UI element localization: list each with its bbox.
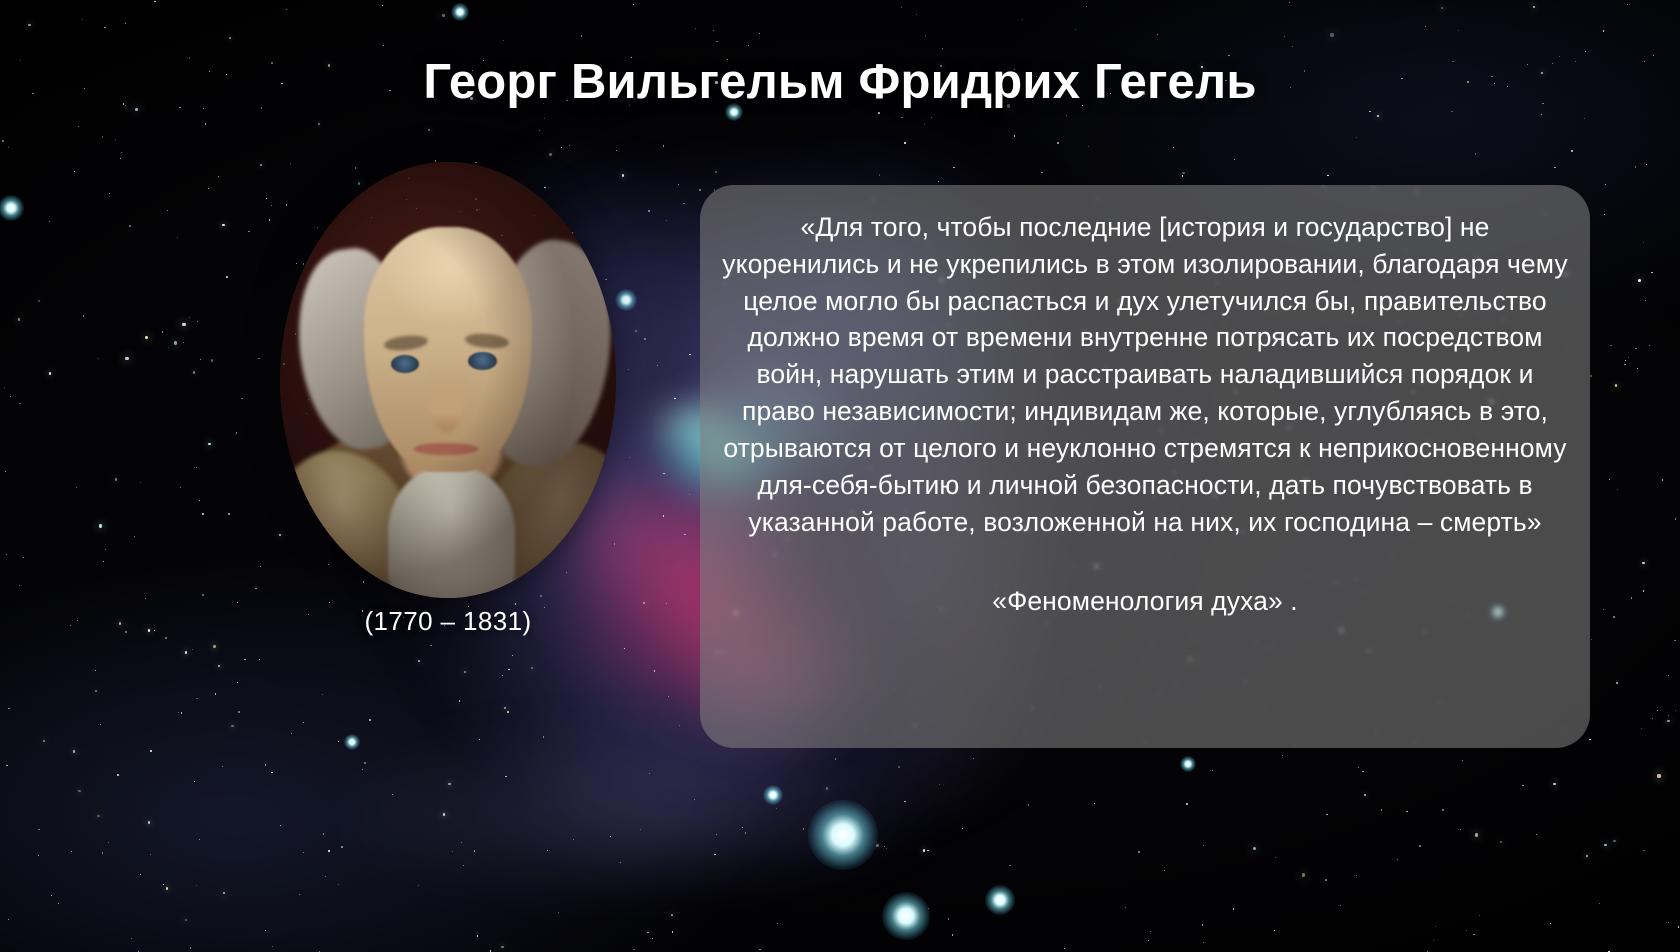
star xyxy=(1500,841,1502,843)
star xyxy=(640,829,641,830)
star xyxy=(418,660,420,662)
star xyxy=(507,711,509,713)
star xyxy=(148,821,150,823)
star xyxy=(291,733,292,734)
star xyxy=(1275,857,1276,858)
star xyxy=(689,494,690,495)
star xyxy=(904,142,906,144)
star xyxy=(77,620,78,621)
quote-text: «Для того, чтобы последние [история и го… xyxy=(722,209,1568,540)
star xyxy=(1643,590,1645,592)
star xyxy=(886,848,887,849)
star xyxy=(1157,34,1158,35)
star xyxy=(1643,850,1644,851)
star xyxy=(1651,272,1653,274)
star xyxy=(1609,479,1610,480)
star xyxy=(581,35,582,36)
star xyxy=(1635,166,1637,168)
star xyxy=(168,347,169,348)
star xyxy=(904,801,905,802)
star xyxy=(759,949,761,951)
star xyxy=(271,772,273,774)
star xyxy=(341,846,343,848)
star xyxy=(180,487,181,488)
star xyxy=(464,671,466,673)
star xyxy=(4,387,5,388)
star xyxy=(1064,948,1065,949)
star xyxy=(479,739,480,740)
star xyxy=(716,41,718,43)
star xyxy=(199,500,200,501)
star xyxy=(49,221,50,222)
star xyxy=(515,603,517,605)
star xyxy=(38,855,39,856)
star xyxy=(1604,844,1606,846)
star xyxy=(569,145,570,146)
star xyxy=(237,682,238,683)
star xyxy=(241,398,243,400)
star xyxy=(501,946,503,948)
star xyxy=(99,524,102,527)
star xyxy=(1522,785,1523,786)
star xyxy=(185,919,187,921)
star xyxy=(125,631,127,633)
star xyxy=(78,790,80,792)
star xyxy=(1649,345,1650,346)
star xyxy=(1325,879,1327,881)
star xyxy=(477,935,479,937)
star xyxy=(38,829,40,831)
star xyxy=(226,276,228,278)
star xyxy=(1591,639,1592,640)
star xyxy=(177,237,178,238)
star xyxy=(196,698,197,699)
star xyxy=(1292,46,1293,47)
star xyxy=(265,764,267,766)
star xyxy=(148,629,150,631)
quote-card: «Для того, чтобы последние [история и го… xyxy=(700,185,1590,748)
star xyxy=(2,140,4,142)
star xyxy=(117,774,119,776)
star xyxy=(215,693,217,695)
star xyxy=(70,625,71,626)
star xyxy=(1253,847,1256,850)
star xyxy=(938,181,939,182)
star xyxy=(1369,111,1371,113)
star xyxy=(924,124,925,125)
star xyxy=(266,198,267,199)
star xyxy=(652,938,653,939)
star xyxy=(83,315,85,317)
bright-star xyxy=(0,195,24,221)
star xyxy=(236,432,238,434)
star xyxy=(181,712,183,714)
star xyxy=(748,45,749,46)
portrait-frame xyxy=(280,162,616,598)
star xyxy=(100,724,101,725)
star xyxy=(657,365,658,366)
star xyxy=(504,707,506,709)
star xyxy=(448,783,450,785)
star xyxy=(1138,851,1140,853)
star xyxy=(1645,300,1646,301)
star xyxy=(672,931,674,933)
star xyxy=(1674,640,1676,642)
star xyxy=(76,487,77,488)
star xyxy=(218,176,219,177)
star xyxy=(452,851,454,853)
star xyxy=(272,946,273,947)
star xyxy=(228,513,230,515)
star xyxy=(1381,809,1383,811)
star xyxy=(539,130,540,131)
star xyxy=(265,930,266,931)
star xyxy=(196,467,197,468)
star xyxy=(742,827,743,828)
star xyxy=(140,874,141,875)
star xyxy=(255,588,256,589)
star xyxy=(105,549,106,550)
star xyxy=(231,725,233,727)
star xyxy=(1615,384,1617,386)
star xyxy=(826,787,828,789)
star xyxy=(1571,150,1573,152)
star xyxy=(713,30,714,31)
star xyxy=(178,712,179,713)
star xyxy=(98,358,99,359)
star xyxy=(1340,905,1341,906)
star xyxy=(200,359,201,360)
bright-star xyxy=(808,800,878,870)
star xyxy=(129,225,131,227)
star xyxy=(1585,51,1586,52)
star xyxy=(901,7,902,8)
star xyxy=(8,147,9,148)
star xyxy=(759,33,760,34)
star xyxy=(208,188,209,189)
star xyxy=(51,895,52,896)
star xyxy=(622,174,624,176)
star xyxy=(383,45,384,46)
star xyxy=(1150,931,1151,932)
star xyxy=(942,48,943,49)
star xyxy=(1603,30,1605,32)
star xyxy=(1014,135,1015,136)
star xyxy=(103,561,104,562)
star xyxy=(1613,840,1615,842)
star xyxy=(695,28,696,29)
star xyxy=(633,4,634,5)
star xyxy=(1356,875,1357,876)
star xyxy=(663,473,665,475)
star xyxy=(269,219,270,220)
star xyxy=(238,711,240,713)
star xyxy=(38,300,40,302)
star xyxy=(1536,834,1537,835)
star xyxy=(205,123,206,124)
star xyxy=(303,722,304,723)
star xyxy=(1057,142,1059,144)
star xyxy=(165,637,167,639)
star xyxy=(82,19,83,20)
star xyxy=(948,918,949,919)
star xyxy=(1637,368,1638,369)
star xyxy=(131,938,132,939)
star xyxy=(549,153,551,155)
star xyxy=(1435,926,1436,927)
star xyxy=(616,150,617,151)
star xyxy=(1451,111,1452,112)
star xyxy=(1356,137,1357,138)
star xyxy=(5,471,7,473)
star xyxy=(1086,6,1087,7)
star xyxy=(1657,710,1658,711)
star xyxy=(1605,184,1606,185)
star xyxy=(222,766,223,767)
star xyxy=(654,670,655,671)
star xyxy=(1088,146,1089,147)
star xyxy=(1433,940,1434,941)
star xyxy=(1668,675,1670,677)
star xyxy=(745,832,746,833)
star xyxy=(901,117,902,118)
star xyxy=(392,794,393,795)
star xyxy=(259,659,260,660)
star xyxy=(1613,616,1615,618)
star xyxy=(318,123,320,125)
star xyxy=(150,854,151,855)
star xyxy=(647,932,648,933)
star xyxy=(1473,934,1475,936)
star xyxy=(628,369,629,370)
star xyxy=(1662,479,1664,481)
star xyxy=(694,799,695,800)
star xyxy=(18,318,20,320)
star xyxy=(663,515,664,516)
star xyxy=(1550,923,1551,924)
star xyxy=(1458,30,1459,31)
star xyxy=(952,934,954,936)
star xyxy=(140,482,141,483)
star xyxy=(1327,175,1329,177)
star xyxy=(208,443,210,445)
star xyxy=(666,603,667,604)
star xyxy=(898,766,900,768)
star xyxy=(1397,859,1398,860)
star xyxy=(260,164,262,166)
star xyxy=(620,862,621,863)
star xyxy=(8,919,9,920)
star xyxy=(328,850,330,852)
star xyxy=(544,118,545,119)
star xyxy=(633,949,635,951)
star xyxy=(1274,930,1275,931)
star xyxy=(1148,940,1149,941)
star xyxy=(931,117,932,118)
star xyxy=(125,23,126,24)
star xyxy=(190,947,192,949)
star xyxy=(166,887,168,889)
star xyxy=(1553,783,1555,785)
star xyxy=(58,903,59,904)
star xyxy=(1603,609,1604,610)
star xyxy=(1668,715,1669,716)
star xyxy=(1475,833,1478,836)
bright-star xyxy=(882,892,930,940)
star xyxy=(1282,755,1284,757)
star xyxy=(916,14,917,15)
star xyxy=(1642,562,1644,564)
star xyxy=(671,914,673,916)
star xyxy=(689,354,691,356)
star xyxy=(1466,930,1467,931)
star xyxy=(715,171,717,173)
star xyxy=(1462,760,1463,761)
star xyxy=(78,126,79,127)
star xyxy=(561,147,562,148)
star xyxy=(125,357,128,360)
star xyxy=(624,648,625,649)
star xyxy=(196,885,197,886)
star xyxy=(777,923,778,924)
star xyxy=(1212,770,1213,771)
star xyxy=(325,876,326,877)
star xyxy=(1624,364,1626,366)
star xyxy=(1616,682,1618,684)
star xyxy=(1202,924,1204,926)
star xyxy=(145,598,146,599)
star xyxy=(1638,279,1641,282)
star xyxy=(1586,855,1588,857)
star xyxy=(323,833,325,835)
star xyxy=(1635,348,1636,349)
star xyxy=(643,602,645,604)
star xyxy=(163,884,164,885)
star xyxy=(442,14,445,17)
star xyxy=(10,396,11,397)
star xyxy=(154,1,155,2)
star xyxy=(73,750,75,752)
star xyxy=(502,675,503,676)
star xyxy=(102,852,103,853)
star xyxy=(1203,942,1204,943)
star xyxy=(1233,908,1235,910)
star xyxy=(258,358,259,359)
star xyxy=(121,152,122,153)
star xyxy=(962,828,963,829)
star xyxy=(1668,922,1670,924)
star xyxy=(1589,739,1590,740)
star xyxy=(19,403,21,405)
star xyxy=(74,171,75,172)
star xyxy=(1330,33,1333,36)
star xyxy=(192,649,193,650)
star xyxy=(1284,36,1285,37)
star xyxy=(1358,767,1359,768)
star xyxy=(1643,242,1645,244)
star xyxy=(716,834,717,835)
star xyxy=(1094,803,1095,804)
star xyxy=(512,655,513,656)
star xyxy=(1675,710,1676,711)
star xyxy=(1164,870,1165,871)
star xyxy=(1599,903,1601,905)
star xyxy=(6,765,8,767)
star xyxy=(218,665,220,667)
star xyxy=(678,184,679,185)
star xyxy=(382,5,383,6)
star xyxy=(280,825,281,826)
star xyxy=(1475,153,1476,154)
star xyxy=(43,740,45,742)
star xyxy=(939,784,940,785)
star xyxy=(174,341,177,344)
star xyxy=(338,884,340,886)
portrait-hegel xyxy=(280,162,616,598)
star xyxy=(1289,2,1290,3)
star xyxy=(1584,118,1585,119)
star xyxy=(1479,915,1480,916)
star xyxy=(1667,720,1669,722)
star xyxy=(6,554,8,556)
star xyxy=(953,167,955,169)
star xyxy=(199,839,200,840)
star xyxy=(213,645,215,647)
star xyxy=(154,630,155,631)
bright-star xyxy=(985,885,1015,915)
star xyxy=(202,594,204,596)
star xyxy=(1533,6,1535,8)
star xyxy=(1377,115,1379,117)
star xyxy=(119,622,121,624)
star xyxy=(1173,147,1174,148)
star xyxy=(322,694,323,695)
star xyxy=(229,37,231,39)
star xyxy=(803,828,805,830)
star xyxy=(1203,845,1204,846)
star xyxy=(679,725,680,726)
star xyxy=(1554,167,1556,169)
bright-star xyxy=(344,734,360,750)
star xyxy=(150,750,152,752)
star xyxy=(649,773,650,774)
star xyxy=(1442,809,1444,811)
page-title: Георг Вильгельм Фридрих Гегель xyxy=(0,55,1680,110)
star xyxy=(120,158,121,159)
star xyxy=(776,808,777,809)
star xyxy=(505,776,506,777)
star xyxy=(418,885,419,886)
star xyxy=(923,849,925,851)
star xyxy=(610,836,611,837)
star xyxy=(1460,829,1461,830)
bright-star xyxy=(1180,756,1196,772)
star xyxy=(19,585,20,586)
star xyxy=(211,359,213,361)
portrait-caption: (1770 – 1831) xyxy=(280,606,616,637)
star xyxy=(1652,718,1653,719)
star xyxy=(1541,114,1542,115)
star xyxy=(202,513,204,515)
star xyxy=(271,205,272,206)
star xyxy=(879,174,881,176)
star xyxy=(1028,804,1030,806)
star xyxy=(973,758,974,759)
star xyxy=(338,741,339,742)
star xyxy=(1364,794,1366,796)
star xyxy=(644,338,646,340)
star xyxy=(71,851,72,852)
